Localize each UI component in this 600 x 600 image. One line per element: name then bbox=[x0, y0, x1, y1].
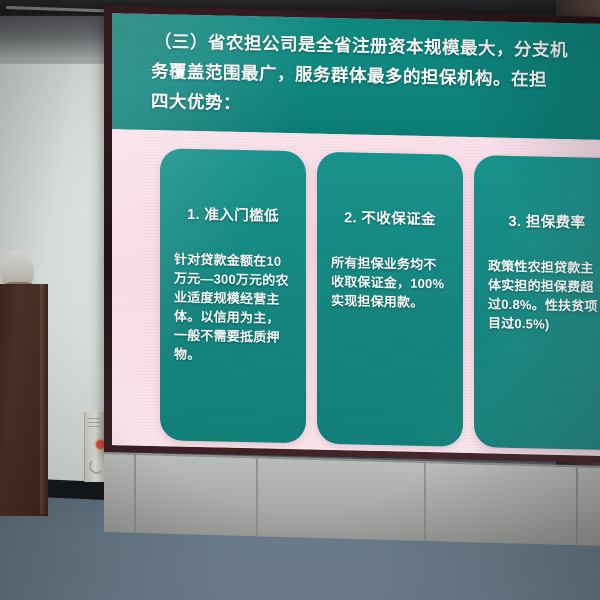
device-label-lines-icon bbox=[87, 418, 100, 428]
card-3-title: 3. 担保费率 bbox=[488, 209, 600, 233]
wall-trim-line bbox=[0, 60, 110, 63]
stage-base-panels bbox=[104, 452, 600, 546]
advantage-card-2: 2. 不收保证金 所有担保业务均不收取保证金，100%实现担保用款。 bbox=[317, 152, 463, 447]
base-panel-seam bbox=[256, 458, 258, 536]
advantage-card-3: 3. 担保费率 政策性农担贷款主体实担的担保费超过0.8%。性扶贫项目过0.5%… bbox=[474, 155, 600, 450]
base-panel-seam bbox=[134, 455, 136, 533]
wall-upper-shadow bbox=[0, 16, 112, 64]
led-display-screen: （三）省农担公司是全省注册资本规模最大，分支机 务覆盖范围最广，服务群体最多的担… bbox=[104, 6, 600, 487]
base-panel-seam bbox=[424, 463, 426, 541]
card-1-body: 针对贷款金额在10万元—300万元的农业适度规模经营主体。以信用为主，一般不需要… bbox=[174, 250, 292, 367]
presentation-room-photo: （三）省农担公司是全省注册资本规模最大，分支机 务覆盖范围最广，服务群体最多的担… bbox=[0, 0, 600, 600]
base-panel-seam bbox=[576, 467, 578, 545]
card-1-title: 1. 准入门槛低 bbox=[174, 203, 292, 227]
slide-body-area: 1. 准入门槛低 针对贷款金额在10万元—300万元的农业适度规模经营主体。以信… bbox=[112, 129, 600, 456]
device-arc-icon bbox=[89, 458, 105, 474]
advantage-card-1: 1. 准入门槛低 针对贷款金额在10万元—300万元的农业适度规模经营主体。以信… bbox=[160, 148, 306, 443]
card-2-body: 所有担保业务均不收取保证金，100%实现担保用款。 bbox=[331, 253, 449, 313]
card-3-body: 政策性农担贷款主体实担的担保费超过0.8%。性扶贫项目过0.5%) bbox=[488, 256, 600, 335]
card-2-title: 2. 不收保证金 bbox=[331, 206, 449, 230]
advantage-card-group: 1. 准入门槛低 针对贷款金额在10万元—300万元的农业适度规模经营主体。以信… bbox=[112, 147, 600, 450]
slide-header-band: （三）省农担公司是全省注册资本规模最大，分支机 务覆盖范围最广，服务群体最多的担… bbox=[112, 13, 600, 140]
podium-edge bbox=[40, 284, 48, 514]
slide-surface: （三）省农担公司是全省注册资本规模最大，分支机 务覆盖范围最广，服务群体最多的担… bbox=[112, 13, 600, 456]
